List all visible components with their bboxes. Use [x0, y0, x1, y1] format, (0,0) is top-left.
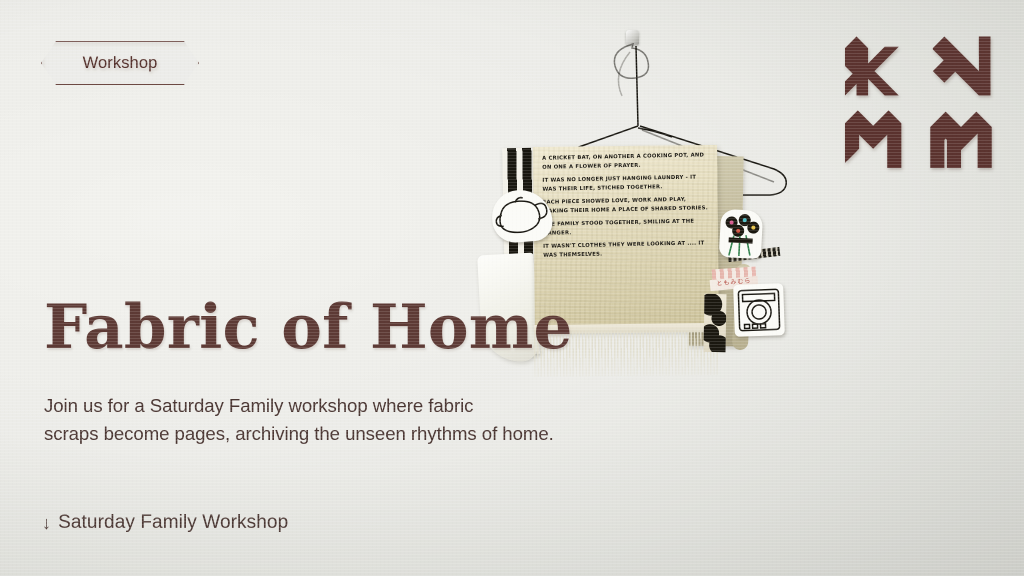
poster-canvas: Workshop [0, 0, 1024, 576]
logo-glyph-k-icon [838, 34, 916, 98]
description-line-1: Join us for a Saturday Family workshop w… [44, 392, 554, 420]
teapot-sticker-icon [490, 188, 553, 244]
page-title: Fabric of Home [44, 296, 572, 361]
washing-machine-sticker-icon [733, 283, 785, 337]
note-paragraph-4: The Family Stood Together, Smiling At Th… [543, 217, 710, 237]
cta-link[interactable]: ↓ Saturday Family Workshop [42, 512, 288, 534]
workshop-badge-label: Workshop [83, 54, 158, 73]
logo-glyph-m-icon [838, 104, 916, 168]
description-text: Join us for a Saturday Family workshop w… [44, 392, 554, 449]
note-paragraph-1: A Cricket Bat, On Another a Cooking Pot,… [542, 151, 709, 171]
note-paragraph-3: Each Piece Showed Love, Work And Play, M… [543, 195, 710, 215]
cta-label: Saturday Family Workshop [58, 512, 288, 534]
logo-glyph-n-icon [922, 34, 1000, 98]
note-paragraph-2: It Was No Longer Just Hanging Laundry - … [542, 173, 709, 193]
workshop-badge[interactable]: Workshop [41, 41, 199, 85]
note-paragraph-5: It Wasn't Clothes They Were Looking At .… [543, 239, 710, 259]
logo-glyph-a-icon [922, 104, 1000, 168]
description-line-2: scraps become pages, archiving the unsee… [44, 420, 554, 448]
flower-bouquet-sticker-icon [719, 209, 763, 259]
leopard-print-tape [703, 294, 726, 352]
arrow-down-icon: ↓ [42, 514, 51, 532]
knma-logo[interactable] [838, 34, 1000, 168]
